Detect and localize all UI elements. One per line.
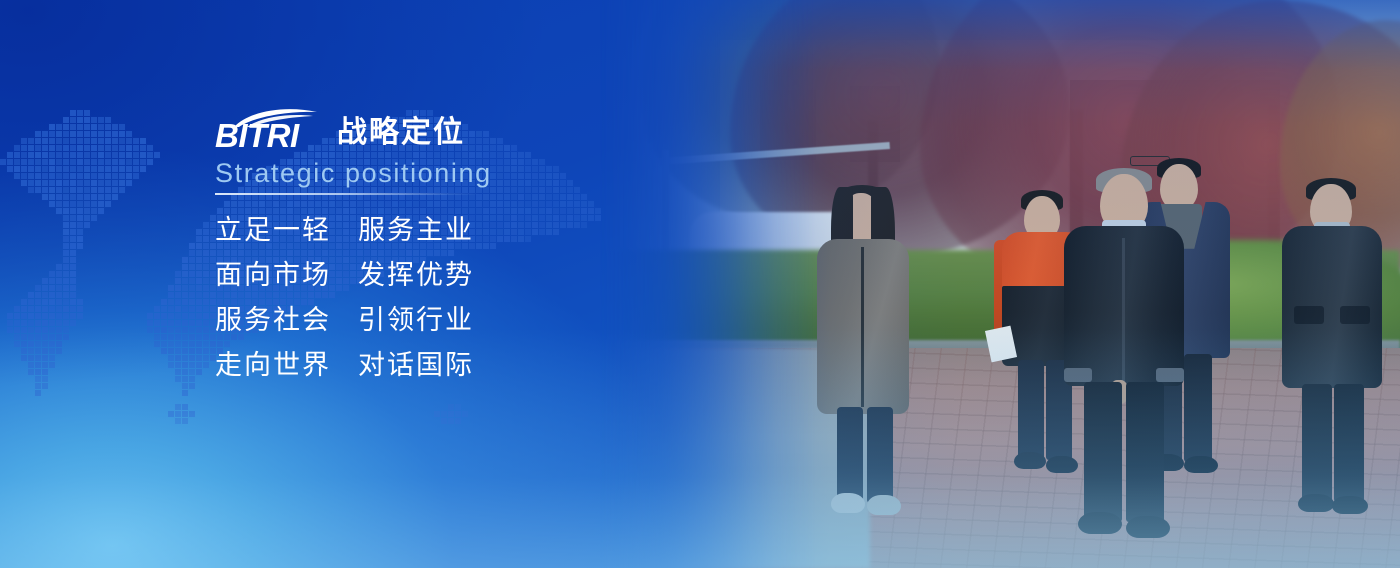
slogan-left: 面向市场 [215, 262, 358, 289]
slogan-left: 服务社会 [215, 307, 358, 334]
slogan-right: 引领行业 [358, 307, 474, 334]
slogan-list: 立足一轻 服务主业 面向市场 发挥优势 服务社会 引领行业 走向世界 对话国际 [215, 217, 695, 379]
brand-subtitle-en: Strategic positioning [215, 159, 695, 187]
bitri-logo: BITRI [215, 110, 323, 150]
slogan-right: 服务主业 [358, 217, 474, 244]
slogan-left: 走向世界 [215, 352, 358, 379]
strategic-positioning-banner: BITRI 战略定位 Strategic positioning 立足一轻 服务… [0, 0, 1400, 568]
banner-content: BITRI 战略定位 Strategic positioning 立足一轻 服务… [215, 108, 695, 379]
photo-vertical-tint [600, 0, 1400, 568]
brand-lockup: BITRI 战略定位 [215, 108, 695, 150]
brand-title-cn: 战略定位 [337, 118, 465, 148]
slogan-line: 走向世界 对话国际 [215, 352, 695, 379]
subtitle-underline [215, 193, 480, 195]
slogan-right: 发挥优势 [358, 262, 474, 289]
photo-top-fade [600, 0, 1400, 70]
campus-photo [600, 0, 1400, 568]
slogan-left: 立足一轻 [215, 217, 358, 244]
slogan-line: 服务社会 引领行业 [215, 307, 695, 334]
slogan-line: 立足一轻 服务主业 [215, 217, 695, 244]
slogan-line: 面向市场 发挥优势 [215, 262, 695, 289]
photo-scene [600, 0, 1400, 568]
slogan-right: 对话国际 [358, 352, 474, 379]
bitri-wordmark: BITRI [215, 119, 299, 152]
